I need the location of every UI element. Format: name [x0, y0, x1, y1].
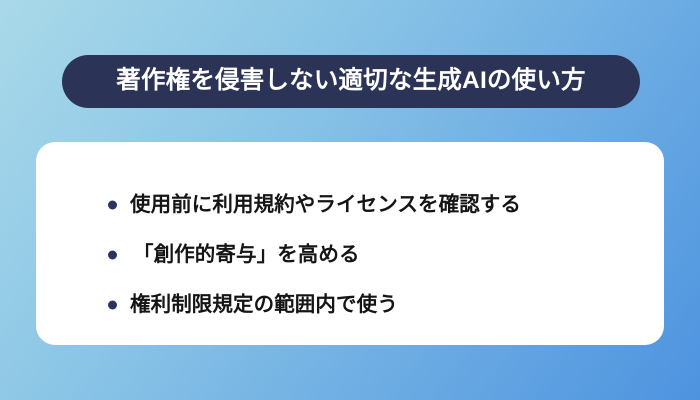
content-card: 使用前に利用規約やライセンスを確認する 「創作的寄与」を高める 権利制限規定の範… — [36, 142, 664, 345]
list-item: 権利制限規定の範囲内で使う — [108, 280, 624, 330]
bullet-list: 使用前に利用規約やライセンスを確認する 「創作的寄与」を高める 権利制限規定の範… — [108, 180, 624, 330]
title-banner: 著作権を侵害しない適切な生成AIの使い方 — [62, 55, 640, 108]
list-item-label: 「創作的寄与」を高める — [133, 245, 360, 266]
list-item-label: 使用前に利用規約やライセンスを確認する — [130, 195, 521, 216]
bullet-dot-icon — [108, 301, 117, 310]
slide-canvas: 著作権を侵害しない適切な生成AIの使い方 使用前に利用規約やライセンスを確認する… — [0, 0, 700, 400]
list-item-label: 権利制限規定の範囲内で使う — [130, 295, 398, 316]
list-item: 「創作的寄与」を高める — [108, 230, 624, 280]
bullet-dot-icon — [108, 251, 117, 260]
bullet-dot-icon — [108, 201, 117, 210]
page-title: 著作権を侵害しない適切な生成AIの使い方 — [116, 69, 586, 94]
list-item: 使用前に利用規約やライセンスを確認する — [108, 180, 624, 230]
